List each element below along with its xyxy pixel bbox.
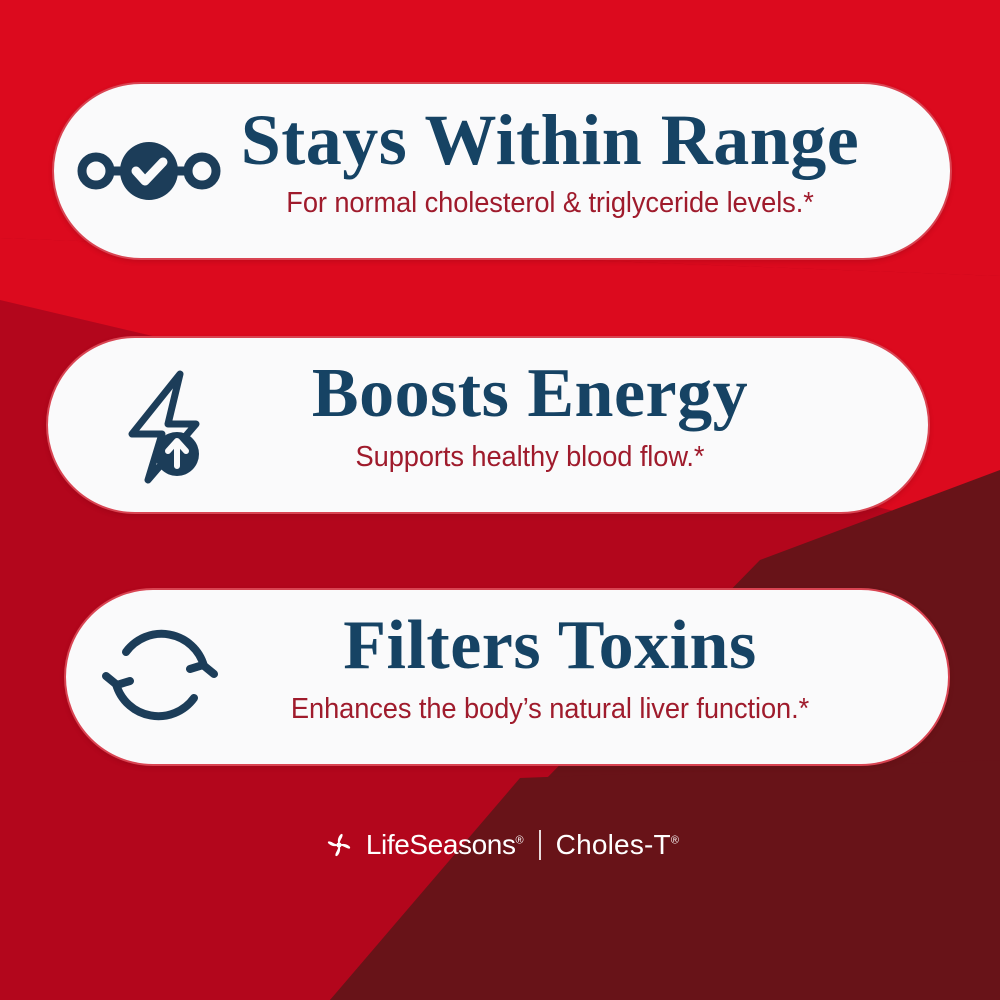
promo-graphic: Stays Within Range For normal cholestero… — [0, 0, 1000, 1000]
benefit-headline-2: Boosts Energy — [200, 358, 860, 429]
benefit-headline-1: Stays Within Range — [200, 104, 900, 177]
product-name: Choles-T® — [556, 829, 680, 861]
benefit-text-3: Filters Toxins Enhances the body’s natur… — [200, 610, 900, 726]
benefit-subline-1: For normal cholesterol & triglyceride le… — [221, 187, 879, 220]
footer-branding: LifeSeasons® Choles-T® — [0, 828, 1000, 862]
benefit-text-2: Boosts Energy Supports healthy blood flo… — [200, 358, 860, 474]
brand-name: LifeSeasons® — [366, 829, 524, 861]
brand-name-text: LifeSeasons — [366, 829, 516, 860]
benefit-text-1: Stays Within Range For normal cholestero… — [200, 104, 900, 220]
brand-registered-mark: ® — [516, 835, 524, 847]
product-registered-mark: ® — [671, 835, 679, 847]
product-name-text: Choles-T — [556, 829, 671, 860]
benefit-subline-2: Supports healthy blood flow.* — [220, 441, 840, 474]
brand-separator — [539, 830, 541, 860]
lifeseasons-pinwheel-logo — [321, 828, 357, 862]
benefit-subline-3: Enhances the body’s natural liver functi… — [221, 693, 879, 726]
benefit-headline-3: Filters Toxins — [200, 610, 900, 681]
